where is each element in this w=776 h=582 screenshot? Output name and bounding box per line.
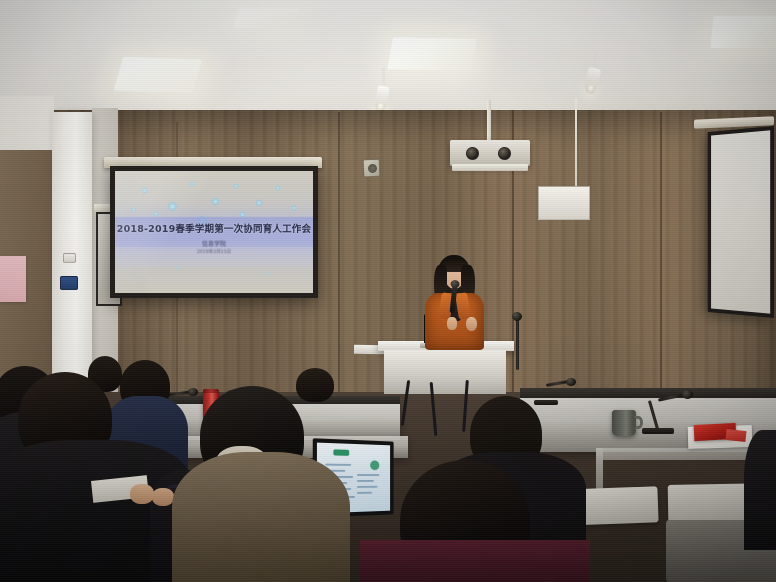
- microphone-head-icon: [512, 312, 522, 321]
- presenter-hand: [466, 317, 477, 331]
- wood-panel-seam: [338, 112, 340, 400]
- attendee-hand: [130, 484, 154, 504]
- side-screen-surface: [711, 130, 770, 313]
- ceiling-projector: [450, 140, 530, 166]
- projection-screen: 2018-2019春季学期第一次协同育人工作会 信息学院 2019年3月15日: [110, 166, 318, 298]
- attendee-hand: [152, 488, 174, 506]
- mug-handle-icon: [634, 416, 643, 429]
- projector-mount-rod: [487, 100, 491, 142]
- pink-poster: [0, 256, 26, 302]
- av-control-panel[interactable]: [60, 276, 78, 290]
- presenter-hand: [447, 317, 457, 330]
- projector-lens-icon: [466, 147, 479, 160]
- attendee-body: [744, 430, 776, 550]
- ceiling-panel-light: [114, 57, 203, 94]
- projector-lens-icon: [498, 147, 511, 160]
- wall-speaker-icon: [363, 159, 381, 178]
- wall-equipment-box: [538, 186, 590, 220]
- ceiling-cable: [575, 98, 577, 188]
- attendee-fur-collar-coat: [172, 452, 350, 582]
- screen-badge-icon: [333, 449, 349, 456]
- presenter: [416, 255, 492, 350]
- ceiling-panel-light: [387, 37, 476, 70]
- microphone-head-icon: [188, 388, 198, 396]
- wood-panel-seam: [660, 112, 662, 398]
- ceiling-panel-light: [710, 16, 776, 48]
- slide-content: 2018-2019春季学期第一次协同育人工作会 信息学院 2019年3月15日: [115, 171, 313, 293]
- ceiling-panel-light: [233, 8, 299, 28]
- red-booklet: [725, 429, 746, 442]
- coffee-mug: [612, 410, 636, 436]
- projector-shelf: [452, 164, 528, 171]
- microphone-base: [534, 400, 558, 405]
- attendee-head: [296, 368, 334, 402]
- attendee-body: [360, 540, 590, 582]
- side-projection-screen: [708, 126, 774, 318]
- conference-room-photo: 2018-2019春季学期第一次协同育人工作会 信息学院 2019年3月15日: [0, 0, 776, 582]
- microphone-head-icon: [566, 378, 576, 386]
- microphone-head-icon: [682, 390, 693, 399]
- lectern-body: [384, 350, 506, 394]
- light-switch[interactable]: [63, 253, 76, 263]
- screen-badge-icon: [370, 460, 379, 470]
- screen-glare: [115, 171, 313, 293]
- microphone-stand: [516, 318, 519, 370]
